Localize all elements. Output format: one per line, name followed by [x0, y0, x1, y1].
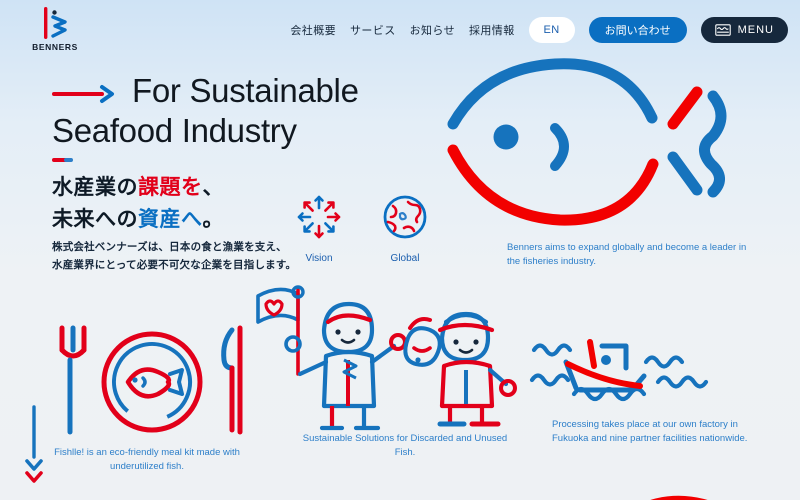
jp-headline: 水産業の課題を、 未来への資産へ。 — [52, 172, 224, 235]
red-blue-arrow-icon — [52, 74, 122, 113]
global-label: Global — [391, 253, 420, 264]
fork-plate-fish-knife-icon — [40, 320, 270, 440]
jp-body-text: 株式会社ベンナーズは、日本の食と漁業を支え、 水産業界にとって必要不可欠な企業を… — [52, 239, 296, 275]
accent-dash-icon — [52, 158, 72, 162]
nav-services[interactable]: サービス — [350, 22, 396, 38]
jp-line1-a: 水産業の — [52, 176, 138, 199]
vision-item[interactable]: Vision — [290, 192, 348, 264]
jp-headline-line2: 未来への資産へ。 — [52, 204, 224, 236]
people-caption: Sustainable Solutions for Discarded and … — [300, 432, 510, 461]
jp-line2-a: 未来への — [52, 208, 138, 231]
language-button[interactable]: EN — [529, 17, 575, 43]
two-people-holding-fish-icon — [252, 282, 517, 432]
wave-in-box-icon — [715, 24, 731, 36]
jp-body-line2: 水産業界にとって必要不可欠な企業を目指します。 — [52, 257, 296, 275]
contact-button[interactable]: お問い合わせ — [589, 17, 687, 43]
jp-headline-line1: 水産業の課題を、 — [52, 172, 224, 204]
globe-icon — [380, 192, 430, 247]
jp-line1-c: 、 — [203, 176, 225, 199]
scroll-down-chevrons-icon[interactable] — [22, 405, 46, 490]
nav-company[interactable]: 会社概要 — [290, 22, 336, 38]
page-title-line1: For Sustainable — [132, 72, 359, 109]
nav-recruit[interactable]: 採用情報 — [469, 22, 515, 38]
menu-label: MENU — [738, 24, 774, 36]
logo-wordmark: BENNERS — [32, 42, 78, 52]
nav-news[interactable]: お知らせ — [410, 22, 455, 38]
fishing-boat-waves-icon — [528, 336, 728, 416]
next-section-arc-icon — [612, 484, 782, 500]
page-title-line2: Seafood Industry — [52, 112, 472, 151]
jp-line2-c: 。 — [203, 208, 225, 231]
page-title: For Sustainable Seafood Industry — [52, 72, 472, 151]
jp-body-line1: 株式会社ベンナーズは、日本の食と漁業を支え、 — [52, 239, 296, 257]
jp-line2-highlight: 資産へ — [138, 208, 203, 231]
big-fish-icon — [445, 50, 790, 235]
radiating-arrows-icon — [294, 192, 344, 247]
boat-caption: Processing takes place at our own factor… — [552, 418, 762, 447]
menu-button[interactable]: MENU — [701, 17, 788, 43]
plate-caption: Fishlle! is an eco-friendly meal kit mad… — [47, 446, 247, 475]
mini-icon-group: Vision Global — [290, 192, 434, 264]
global-item[interactable]: Global — [376, 192, 434, 264]
hero-heading-block: For Sustainable Seafood Industry — [52, 72, 472, 151]
fish-caption: Benners aims to expand globally and beco… — [507, 241, 757, 270]
vision-label: Vision — [305, 253, 332, 264]
logo[interactable]: BENNERS — [24, 6, 86, 54]
benners-logo-icon — [31, 6, 79, 40]
jp-line1-highlight: 課題を — [138, 176, 203, 199]
